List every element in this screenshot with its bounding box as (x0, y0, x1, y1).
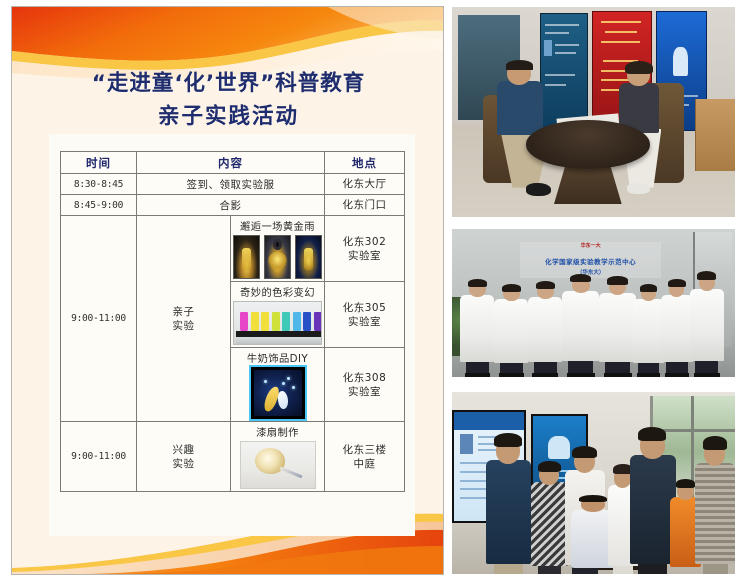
lacquer-fan-image (240, 441, 316, 489)
row-place: 化东308 实验室 (325, 348, 405, 422)
milk-jewelry-diy-photo (233, 367, 322, 419)
photo3-person-adult-4 (695, 410, 735, 574)
photo1-man-shoe (526, 183, 551, 196)
fan-head-shape (255, 448, 285, 474)
tube-rack-base (236, 338, 322, 345)
photo2-person-3 (528, 265, 562, 377)
slide-title-line-1: “走进童‘化’世界”科普教育 (12, 67, 444, 100)
activity-cell: 邂逅一场黄金雨 (231, 216, 325, 282)
row-place: 化东门口 (325, 195, 405, 216)
slide-title-line-2: 亲子实践活动 (12, 100, 444, 133)
row-place: 化东三楼 中庭 (325, 422, 405, 492)
golden-rain-photo-1 (233, 235, 260, 279)
activity-cell: 牛奶饰品DIY (231, 348, 325, 422)
test-tube-5 (282, 312, 290, 332)
table-header-row: 时间 内容 地点 (61, 152, 405, 174)
row-time: 9:00-11:00 (61, 422, 137, 492)
activity-label: 漆扇制作 (233, 424, 322, 439)
screenshot-root: “走进童‘化’世界”科普教育 亲子实践活动 时间 内容 地点 8:30-8:45… (0, 0, 742, 581)
row-category-line-2: 实验 (173, 320, 195, 332)
milk-jewelry-image (251, 367, 305, 419)
activity-cell: 奇妙的色彩变幻 (231, 282, 325, 348)
column-header-time: 时间 (61, 152, 137, 174)
slide-title: “走进童‘化’世界”科普教育 亲子实践活动 (12, 67, 444, 133)
group-photo-lab-coats: 华东一大 化学国家级实验教学示范中心 （华东大） (452, 229, 735, 377)
row-content: 合影 (137, 195, 325, 216)
activity-cell: 漆扇制作 (231, 422, 325, 492)
sparkle-icon (287, 377, 290, 380)
schedule-table: 时间 内容 地点 8:30-8:45 签到、领取实验服 化东大厅 8:45-9:… (60, 151, 405, 492)
photo2-person-7 (661, 262, 692, 377)
row-place: 化东大厅 (325, 174, 405, 195)
test-tube-4 (272, 312, 280, 332)
row-place-line-1: 化东308 (343, 372, 387, 384)
test-tube-rack-image (233, 301, 322, 345)
photo2-person-6 (633, 267, 664, 377)
photo3-person-presenter (486, 407, 531, 574)
row-content: 签到、领取实验服 (137, 174, 325, 195)
photo1-man-hair (506, 60, 533, 71)
test-tube-7 (303, 312, 311, 332)
row-place-line-2: 实验室 (348, 316, 381, 328)
row-category: 亲子 实验 (137, 216, 231, 422)
photo1-man-torso (497, 81, 542, 136)
row-category-line-1: 兴趣 (173, 444, 195, 456)
activity-label: 邂逅一场黄金雨 (233, 218, 322, 233)
photo1-woman-hair (625, 61, 653, 75)
test-tube-2 (251, 312, 259, 332)
photo2-person-2 (494, 267, 528, 377)
presentation-slide: “走进童‘化’世界”科普教育 亲子实践活动 时间 内容 地点 8:30-8:45… (11, 6, 444, 575)
golden-rain-photo-2 (264, 235, 291, 279)
sparkle-icon (282, 382, 285, 385)
interview-at-round-table-photo (452, 7, 735, 217)
photo2-banner-logo-text: 华东一大 (520, 242, 662, 249)
test-tube-1 (240, 312, 248, 332)
row-place: 化东302 实验室 (325, 216, 405, 282)
golden-rain-photo-3 (295, 235, 322, 279)
photo3-screen-portrait (460, 434, 474, 454)
row-place-line-2: 实验室 (348, 250, 381, 262)
row-category-line-2: 实验 (173, 458, 195, 470)
row-place-line-1: 化东302 (343, 236, 387, 248)
activity-label: 牛奶饰品DIY (233, 350, 322, 365)
leaf-shape-white (277, 390, 291, 410)
row-time: 8:30-8:45 (61, 174, 137, 195)
photo-column: 华东一大 化学国家级实验教学示范中心 （华东大） (452, 7, 735, 574)
row-category: 兴趣 实验 (137, 422, 231, 492)
photo1-woman-shoe (627, 183, 650, 194)
row-place-line-2: 实验室 (348, 386, 381, 398)
photo2-person-5 (599, 259, 636, 377)
row-time: 9:00-11:00 (61, 216, 137, 422)
row-category-line-1: 亲子 (173, 306, 195, 318)
visitors-at-exhibit-screens-photo (452, 392, 735, 574)
photo1-round-table (526, 120, 651, 168)
test-tubes-group (240, 310, 322, 332)
golden-rain-experiment-photos (233, 235, 322, 279)
activity-label: 奇妙的色彩变幻 (233, 284, 322, 299)
tube-rack-bar (236, 331, 322, 337)
sparkle-icon (292, 386, 295, 389)
photo3-person-child-1 (531, 439, 568, 574)
photo2-person-1 (460, 262, 494, 377)
photo2-person-8 (690, 253, 724, 377)
row-time: 8:45-9:00 (61, 195, 137, 216)
table-row: 8:45-9:00 合影 化东门口 (61, 195, 405, 216)
row-place-line-1: 化东三楼 (343, 444, 387, 456)
sparkle-icon (264, 380, 267, 383)
photo2-person-4 (562, 256, 599, 377)
table-row: 9:00-11:00 兴趣 实验 漆扇制作 化东三楼 (61, 422, 405, 492)
row-place-line-1: 化东305 (343, 302, 387, 314)
fan-handle-shape (279, 466, 302, 478)
colorful-test-tubes-photo (233, 301, 322, 345)
test-tube-8 (314, 312, 322, 332)
column-header-content: 内容 (137, 152, 325, 174)
photo3-person-adult-3 (630, 399, 675, 574)
lacquer-fan-photo (233, 441, 322, 489)
table-row: 9:00-11:00 亲子 实验 邂逅一场黄金雨 化东302 实验室 (61, 216, 405, 282)
test-tube-3 (261, 312, 269, 332)
row-place-line-2: 中庭 (354, 458, 376, 470)
column-header-place: 地点 (325, 152, 405, 174)
table-row: 8:30-8:45 签到、领取实验服 化东大厅 (61, 174, 405, 195)
photo1-cardboard-boxes (695, 99, 735, 170)
photo1-display-screen-blue-left (540, 13, 588, 131)
row-place: 化东305 实验室 (325, 282, 405, 348)
test-tube-6 (293, 312, 301, 332)
